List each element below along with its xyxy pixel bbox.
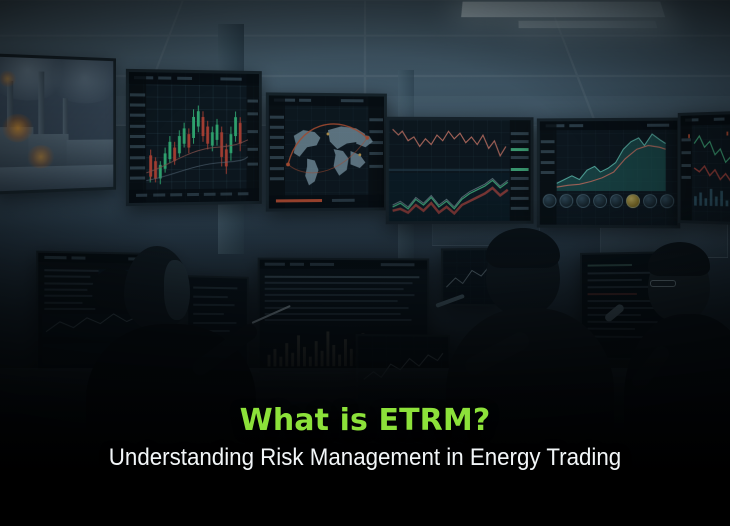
page-subtitle: Understanding Risk Management in Energy … xyxy=(26,444,705,472)
page-title: What is ETRM? xyxy=(0,406,730,436)
caption-block: What is ETRM? Understanding Risk Managem… xyxy=(0,406,730,472)
hero-banner: What is ETRM? Understanding Risk Managem… xyxy=(0,0,730,526)
bottom-gradient-overlay xyxy=(0,200,730,526)
